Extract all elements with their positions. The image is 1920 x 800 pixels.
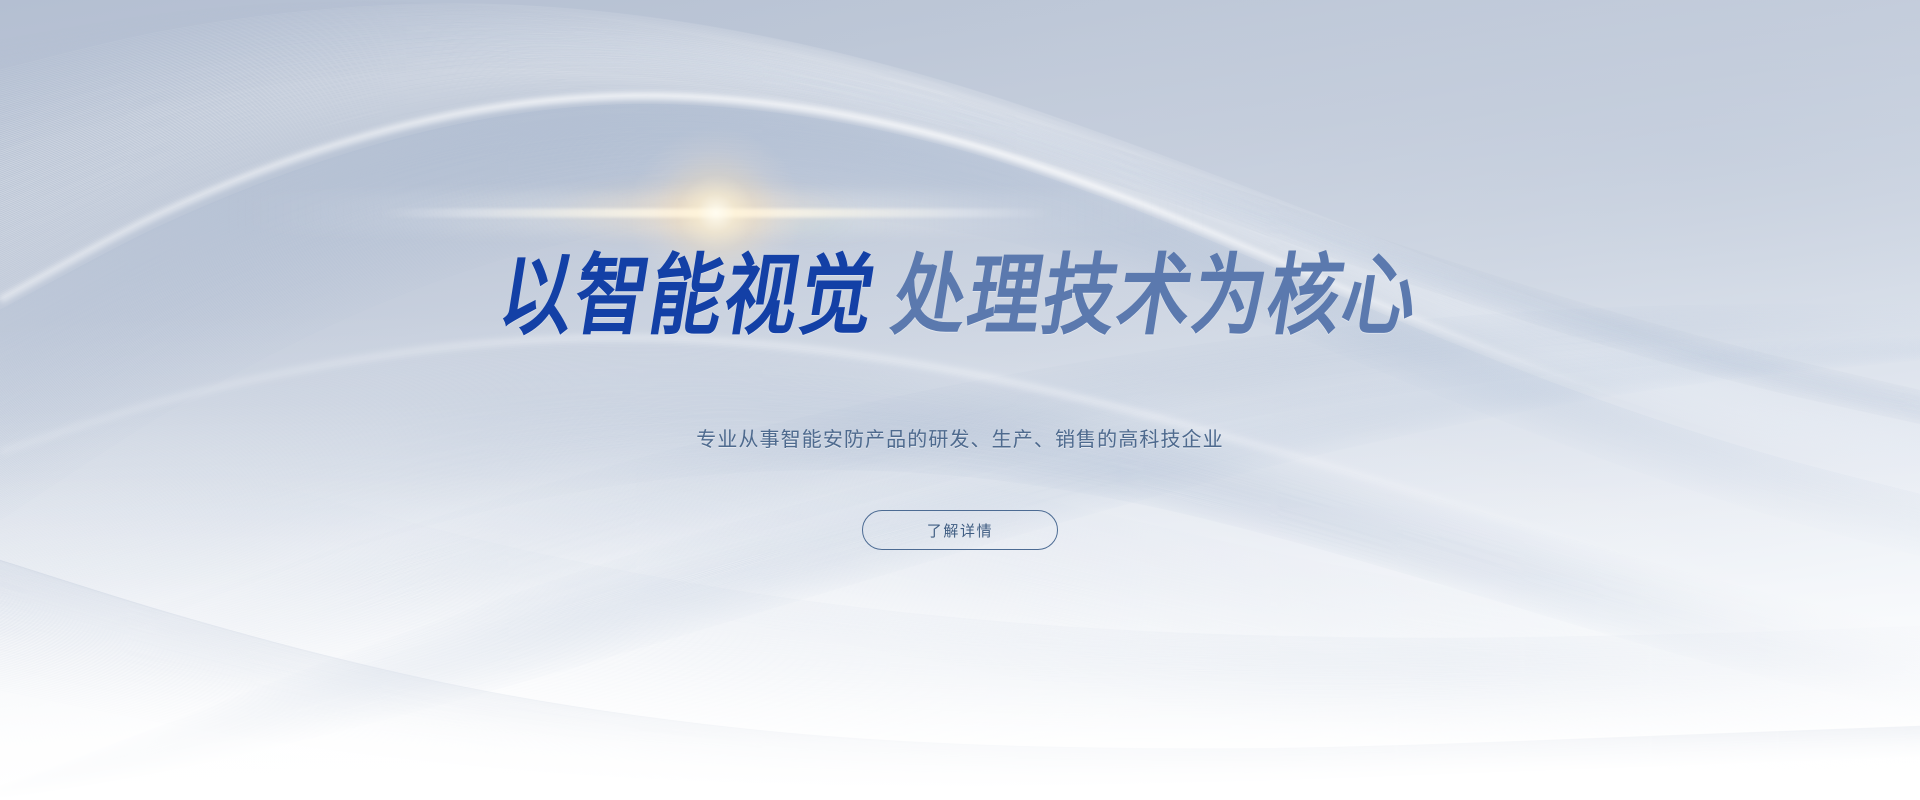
hero-subtitle: 专业从事智能安防产品的研发、生产、销售的高科技企业 (0, 423, 1920, 452)
hero-content: 以智能视觉处理技术为核心 专业从事智能安防产品的研发、生产、销售的高科技企业 了… (0, 0, 1920, 800)
hero-headline: 以智能视觉处理技术为核心 (0, 265, 1920, 341)
headline-segment-primary: 以智能视觉 (494, 253, 882, 341)
hero-banner: 以智能视觉处理技术为核心 专业从事智能安防产品的研发、生产、销售的高科技企业 了… (0, 0, 1920, 800)
learn-more-button[interactable]: 了解详情 (862, 510, 1058, 550)
headline-segment-secondary: 处理技术为核心 (887, 253, 1425, 341)
